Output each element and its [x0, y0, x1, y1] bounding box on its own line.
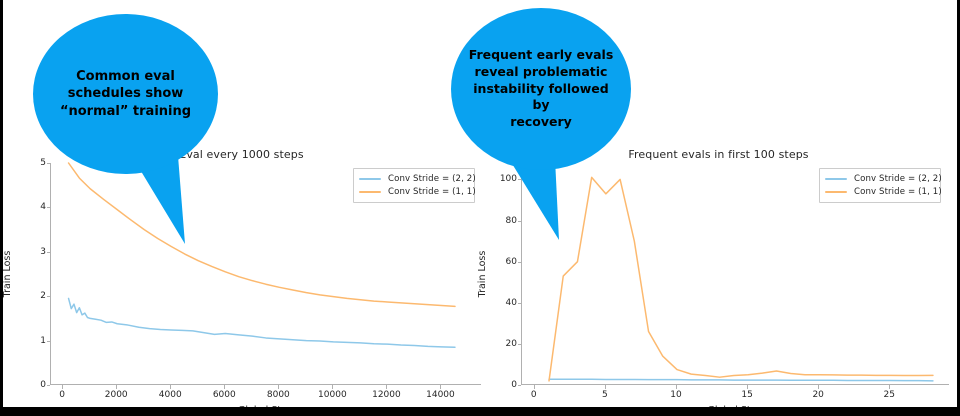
- y-tick-mark: [518, 303, 522, 304]
- y-axis-label-right: Train Loss: [477, 251, 488, 298]
- legend-swatch-conv-stride-1-1: [825, 191, 847, 193]
- legend-swatch-conv-stride-2-2: [825, 178, 847, 180]
- y-tick-mark: [47, 385, 51, 386]
- x-tick-label: 10: [651, 390, 701, 400]
- callout-bubble-right[interactable]: Frequent early evalsreveal problematicin…: [451, 8, 631, 170]
- x-tick-mark: [224, 385, 225, 389]
- x-tick-mark: [818, 385, 819, 389]
- legend-item[interactable]: Conv Stride = (1, 1): [825, 186, 934, 199]
- x-tick-label: 15: [722, 390, 772, 400]
- x-tick-mark: [278, 385, 279, 389]
- y-tick-label: 3: [18, 246, 46, 258]
- y-axis-label-left: Train Loss: [2, 251, 13, 298]
- y-tick-mark: [518, 344, 522, 345]
- series-line: [69, 298, 455, 347]
- x-tick-label: 8000: [253, 390, 303, 400]
- x-tick-mark: [386, 385, 387, 389]
- callout-line: “normal” training: [60, 103, 191, 120]
- x-tick-mark: [170, 385, 171, 389]
- x-tick-mark: [676, 385, 677, 389]
- callout-line: instability followed by: [465, 81, 617, 115]
- x-tick-label: 6000: [199, 390, 249, 400]
- y-tick-mark: [47, 163, 51, 164]
- x-tick-label: 10000: [307, 390, 357, 400]
- x-tick-label: 14000: [415, 390, 465, 400]
- figure-root: Eval every 1000 steps Train Loss Global …: [0, 0, 960, 416]
- x-tick-mark: [62, 385, 63, 389]
- series-line: [549, 379, 933, 381]
- callout-line: schedules show: [60, 85, 191, 102]
- x-tick-label: 25: [864, 390, 914, 400]
- y-tick-label: 60: [489, 256, 517, 268]
- x-tick-mark: [889, 385, 890, 389]
- x-tick-mark: [605, 385, 606, 389]
- callout-line: reveal problematic: [465, 64, 617, 81]
- callout-bubble-left[interactable]: Common evalschedules show“normal” traini…: [33, 14, 218, 174]
- y-tick-label: 4: [18, 201, 46, 213]
- x-tick-label: 4000: [145, 390, 195, 400]
- x-tick-label: 0: [509, 390, 559, 400]
- y-tick-label: 5: [18, 157, 46, 169]
- y-tick-mark: [518, 262, 522, 263]
- y-tick-label: 1: [18, 335, 46, 347]
- legend-label-conv-stride-2-2: Conv Stride = (2, 2): [854, 173, 942, 186]
- legend-label-conv-stride-1-1: Conv Stride = (1, 1): [388, 186, 476, 199]
- callout-line: recovery: [465, 114, 617, 131]
- x-tick-label: 12000: [361, 390, 411, 400]
- callout-line: Frequent early evals: [465, 47, 617, 64]
- x-tick-label: 0: [37, 390, 87, 400]
- y-tick-mark: [47, 341, 51, 342]
- x-tick-label: 2000: [91, 390, 141, 400]
- legend-label-conv-stride-1-1: Conv Stride = (1, 1): [854, 186, 942, 199]
- x-axis-label-right: Global Step: [521, 405, 949, 416]
- y-tick-mark: [47, 296, 51, 297]
- legend-left[interactable]: Conv Stride = (2, 2) Conv Stride = (1, 1…: [353, 168, 475, 203]
- x-axis-label-left: Global Step: [50, 405, 481, 416]
- callout-line: Common eval: [60, 68, 191, 85]
- x-tick-mark: [116, 385, 117, 389]
- legend-item[interactable]: Conv Stride = (1, 1): [359, 186, 468, 199]
- legend-label-conv-stride-2-2: Conv Stride = (2, 2): [388, 173, 476, 186]
- y-tick-label: 2: [18, 290, 46, 302]
- x-tick-mark: [440, 385, 441, 389]
- x-tick-mark: [747, 385, 748, 389]
- matplotlib-figure: Eval every 1000 steps Train Loss Global …: [3, 0, 957, 407]
- legend-item[interactable]: Conv Stride = (2, 2): [825, 173, 934, 186]
- legend-item[interactable]: Conv Stride = (2, 2): [359, 173, 468, 186]
- y-tick-mark: [518, 385, 522, 386]
- y-tick-mark: [47, 207, 51, 208]
- legend-swatch-conv-stride-1-1: [359, 191, 381, 193]
- y-tick-label: 40: [489, 297, 517, 309]
- legend-right[interactable]: Conv Stride = (2, 2) Conv Stride = (1, 1…: [819, 168, 941, 203]
- y-tick-label: 20: [489, 338, 517, 350]
- x-tick-mark: [332, 385, 333, 389]
- x-tick-label: 20: [793, 390, 843, 400]
- y-tick-mark: [47, 252, 51, 253]
- x-tick-label: 5: [580, 390, 630, 400]
- legend-swatch-conv-stride-2-2: [359, 178, 381, 180]
- callout-bubble-left-text: Common evalschedules show“normal” traini…: [46, 68, 205, 120]
- callout-bubble-right-text: Frequent early evalsreveal problematicin…: [451, 47, 631, 131]
- x-tick-mark: [534, 385, 535, 389]
